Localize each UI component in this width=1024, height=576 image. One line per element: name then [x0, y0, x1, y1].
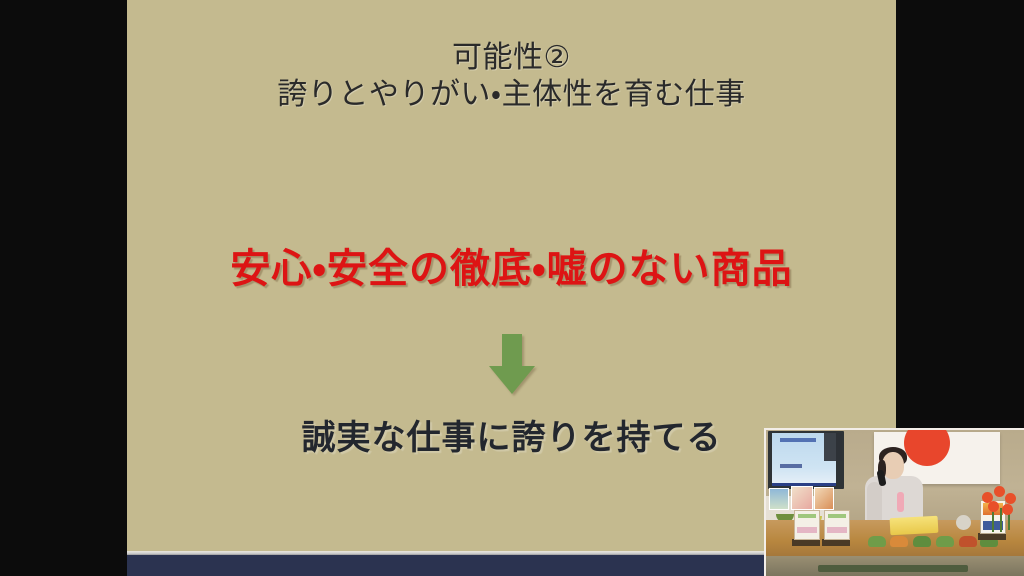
card-easel-1: [792, 539, 820, 546]
down-arrow-icon: [489, 334, 535, 394]
video-scene: [766, 430, 1024, 576]
produce-sample-1: [868, 536, 886, 547]
product-card-1-header: [798, 514, 816, 518]
display-table-rail: [818, 565, 968, 572]
produce-sample-5: [959, 536, 977, 547]
product-card-2: [824, 510, 850, 540]
card-easel-2: [822, 539, 850, 546]
right-card-stand: [978, 533, 1006, 540]
flower-2: [994, 486, 1005, 497]
product-card-2-header: [828, 514, 846, 518]
poster-c: [814, 487, 834, 510]
presenter-ribbon: [897, 492, 904, 512]
slide-title-block: 可能性② 誇りとやりがい・主体性を育む仕事: [127, 40, 896, 113]
produce-sample-2: [890, 536, 908, 547]
screen-stage: 可能性② 誇りとやりがい・主体性を育む仕事 安心・安全の徹底・嘘のない商品 誠実…: [0, 0, 1024, 576]
flower-5: [1002, 504, 1013, 515]
slide-red-headline: 安心・安全の徹底・嘘のない商品: [127, 236, 896, 294]
presenter-video-overlay[interactable]: [764, 428, 1024, 576]
product-card-2-stripe: [827, 527, 847, 533]
white-round-object: [956, 515, 971, 530]
produce-sample-4: [936, 536, 954, 547]
screen-text-line-2: [780, 464, 802, 468]
screen-shadow-area: [824, 433, 842, 461]
slide-title-line-1: 可能性②: [127, 40, 896, 75]
flower-4: [988, 501, 999, 512]
yellow-product-package: [890, 516, 939, 535]
slide-title-line-2: 誇りとやりがい・主体性を育む仕事: [127, 77, 896, 112]
poster-a: [769, 488, 789, 510]
flower-arrangement: [976, 484, 1022, 532]
product-card-1: [794, 510, 820, 540]
flag-red-disc: [904, 428, 950, 466]
screen-text-line-1: [780, 438, 816, 442]
poster-b: [791, 486, 813, 510]
projector-screen-frame: [768, 431, 844, 489]
down-arrow-container: [127, 334, 896, 394]
product-card-1-stripe: [797, 527, 817, 533]
produce-sample-3: [913, 536, 931, 547]
flower-3: [1005, 493, 1016, 504]
